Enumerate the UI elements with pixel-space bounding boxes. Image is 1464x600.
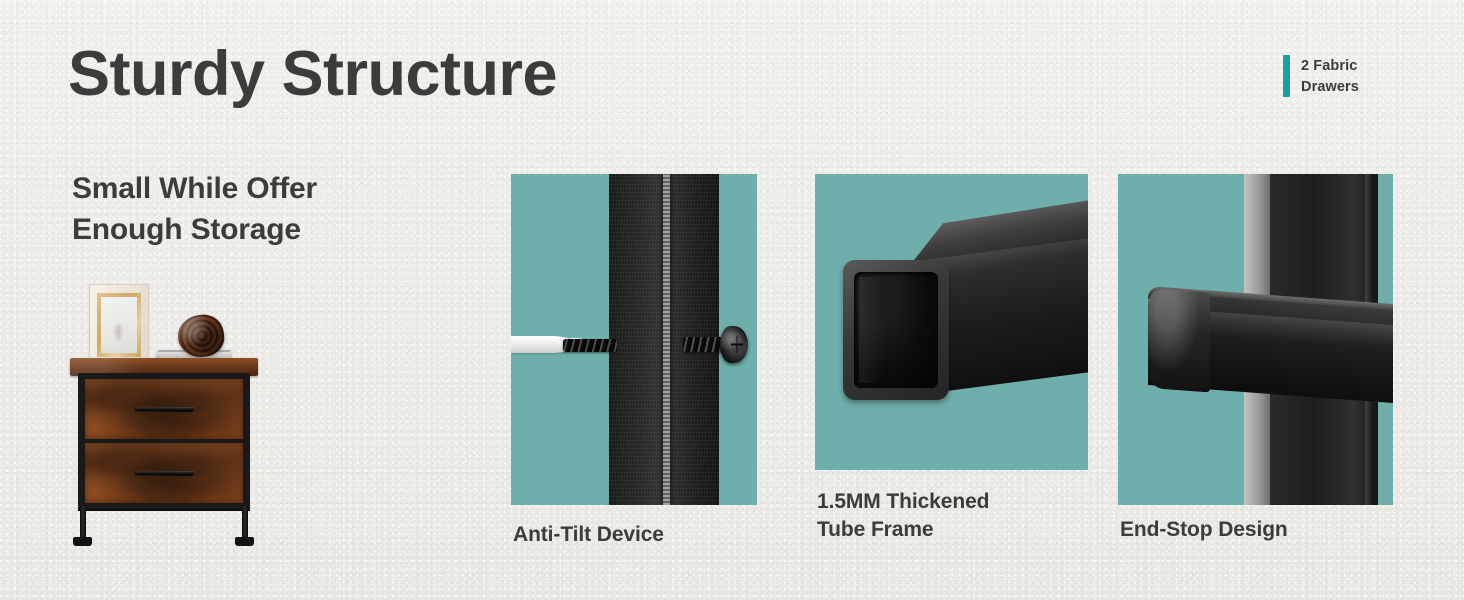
badge-accent-bar: [1283, 55, 1290, 97]
nightstand-leg-left: [80, 506, 86, 541]
tube-end-face: [843, 260, 949, 400]
feature-image-anti-tilt: [511, 174, 757, 505]
decor-picture-frame: [89, 284, 149, 366]
page-subtitle-line1: Small While Offer: [72, 168, 317, 209]
page-subtitle-line2: Enough Storage: [72, 209, 317, 250]
nightstand-drawer-bottom: [85, 443, 243, 503]
feature-caption-tube-frame: 1.5MM Thickened Tube Frame: [817, 488, 989, 544]
nightstand-cabinet: [78, 373, 250, 508]
nightstand-leg-right: [242, 506, 248, 541]
nightstand-bottom-rail: [78, 506, 250, 511]
feature-caption-tube-frame-line1: 1.5MM Thickened: [817, 488, 989, 516]
tube-seam-line: [663, 174, 670, 505]
page-subtitle: Small While Offer Enough Storage: [72, 168, 317, 251]
feature-image-end-stop: [1118, 174, 1393, 505]
screw-head-icon: [720, 326, 748, 363]
feature-caption-end-stop: End-Stop Design: [1120, 516, 1288, 544]
badge-label: 2 Fabric Drawers: [1301, 55, 1359, 97]
infographic-page: Sturdy Structure 2 Fabric Drawers Small …: [0, 0, 1464, 600]
picture-frame-gold-inlay: [97, 293, 141, 357]
feature-image-tube-frame: [815, 174, 1088, 470]
badge-label-line2: Drawers: [1301, 77, 1359, 98]
status-badge: 2 Fabric Drawers: [1283, 55, 1359, 97]
nightstand-foot-left: [73, 537, 92, 546]
badge-label-line1: 2 Fabric: [1301, 56, 1359, 77]
screw-thread-left: [563, 339, 617, 352]
feature-caption-anti-tilt: Anti-Tilt Device: [513, 521, 664, 549]
end-stop-bar-end-cap: [1148, 288, 1210, 393]
drawer-handle-bottom: [133, 471, 195, 476]
product-photo-nightstand: [60, 272, 265, 557]
nightstand-drawer-top: [85, 379, 243, 439]
nightstand-foot-right: [235, 537, 254, 546]
feature-caption-end-stop-line1: End-Stop Design: [1120, 516, 1288, 544]
tube-hollow-bore: [854, 272, 938, 388]
page-title: Sturdy Structure: [68, 40, 557, 108]
drawer-handle-top: [133, 407, 195, 412]
feature-caption-tube-frame-line2: Tube Frame: [817, 516, 989, 544]
feature-caption-anti-tilt-line1: Anti-Tilt Device: [513, 521, 664, 549]
picture-frame-photo: [101, 297, 137, 353]
